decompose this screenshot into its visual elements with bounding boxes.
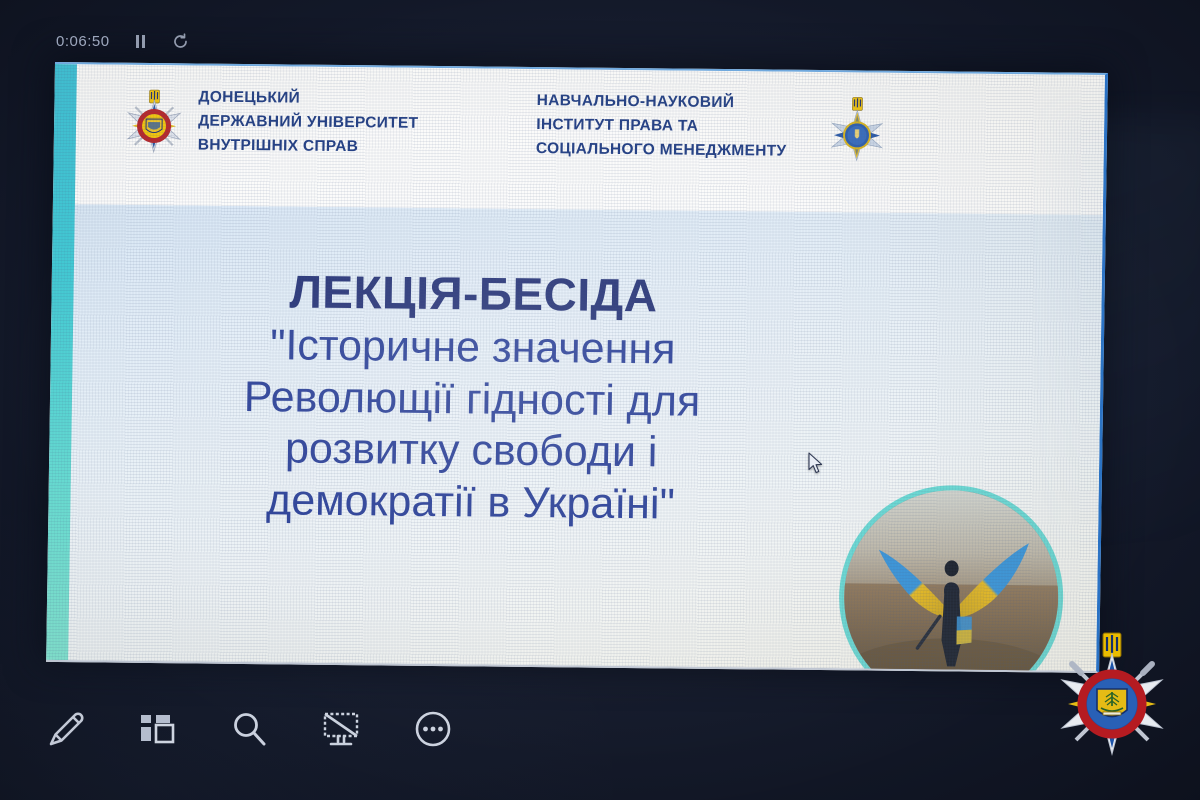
university-emblem-watermark [1048, 632, 1176, 764]
donetsk-university-emblem [126, 88, 183, 155]
slide-header: ДОНЕЦЬКИЙ ДЕРЖАВНИЙ УНІВЕРСИТЕТ ВНУТРІШН… [75, 64, 1105, 215]
right-organisation-block: НАВЧАЛЬНО-НАУКОВИЙ ІНСТИТУТ ПРАВА ТА СОЦ… [536, 69, 886, 165]
loop-icon[interactable] [172, 32, 190, 50]
winged-figure-ukrainian-flag-photo [837, 484, 1064, 673]
presentation-toolbar [0, 658, 1200, 800]
left-organisation-block: ДОНЕЦЬКИЙ ДЕРЖАВНИЙ УНІВЕРСИТЕТ ВНУТРІШН… [126, 65, 420, 160]
slide-body: ЛЕКЦІЯ-БЕСІДА "Історичне значення Револю… [68, 204, 1103, 671]
slide-title-block: ЛЕКЦІЯ-БЕСІДА "Історичне значення Револю… [100, 267, 844, 533]
search-icon[interactable] [222, 702, 276, 756]
playback-time: 0:06:50 [56, 33, 110, 50]
screen-off-icon[interactable] [314, 702, 368, 756]
pen-icon[interactable] [38, 702, 92, 756]
playback-osd: 0:06:50 [56, 32, 190, 50]
pause-icon[interactable] [132, 32, 150, 50]
presentation-screen-capture: 0:06:50 [0, 0, 1200, 800]
projected-slide: ДОНЕЦЬКИЙ ДЕРЖАВНИЙ УНІВЕРСИТЕТ ВНУТРІШН… [46, 62, 1105, 669]
more-options-icon[interactable] [406, 702, 460, 756]
lecture-subtitle: "Історичне значення Револющії гідності д… [100, 319, 843, 533]
lecture-kicker: ЛЕКЦІЯ-БЕСІДА [103, 267, 844, 321]
left-organisation-name: ДОНЕЦЬКИЙ ДЕРЖАВНИЙ УНІВЕРСИТЕТ ВНУТРІШН… [198, 86, 419, 160]
layout-grid-icon[interactable] [130, 702, 184, 756]
institute-emblem [828, 95, 885, 162]
right-organisation-name: НАВЧАЛЬНО-НАУКОВИЙ ІНСТИТУТ ПРАВА ТА СОЦ… [536, 89, 787, 164]
